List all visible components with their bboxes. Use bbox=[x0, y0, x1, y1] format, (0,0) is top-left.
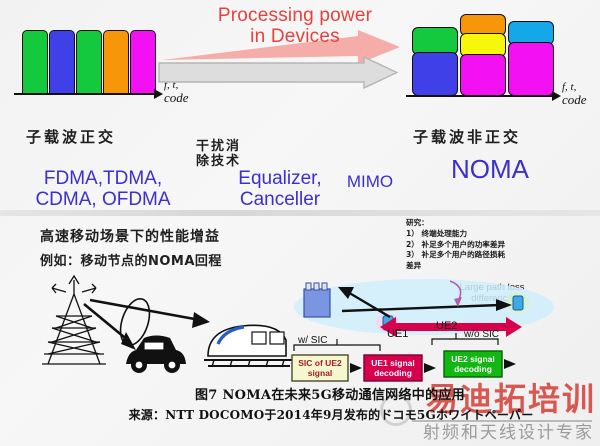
car-icon bbox=[126, 336, 186, 374]
flow-arrow-3 bbox=[504, 359, 516, 369]
stack-column-3 bbox=[508, 21, 554, 96]
train-icon bbox=[204, 325, 294, 367]
research-item-1: 1） 终端处理能力 bbox=[406, 229, 596, 240]
wo-sic-text: w/o SIC bbox=[463, 329, 499, 340]
example-text: 例如：移动节点的NOMA回程 bbox=[40, 250, 222, 269]
mobility-scene bbox=[22, 272, 302, 377]
cell-tower-icon bbox=[42, 276, 106, 364]
slide-figure: f, t, code Processing power in Devices bbox=[0, 0, 600, 446]
ue1-text: UE1 bbox=[387, 328, 408, 340]
interference-cancellation-label: 干扰消 除技术 bbox=[196, 140, 241, 169]
ue2-text: UE2 bbox=[436, 320, 457, 332]
non-orthogonal-subcarrier-chart: f, t, code bbox=[406, 12, 566, 104]
noma-diagram-svg: UE1 UE2 w/ SIC w/o SIC SIC of UE2 signal… bbox=[284, 275, 596, 385]
bar-5 bbox=[130, 30, 156, 94]
svg-text:decoding: decoding bbox=[374, 368, 412, 378]
ue2-device-icon bbox=[506, 293, 530, 313]
block-magenta-2 bbox=[508, 42, 554, 96]
performance-gain-title: 高速移动场景下的性能增益 bbox=[40, 226, 220, 246]
block-blue bbox=[412, 52, 458, 96]
bar-2 bbox=[49, 30, 75, 94]
research-list: 研究： 1） 终端处理能力 2） 补足多个用户的功率差异 3） 补足多个用户的路… bbox=[406, 218, 596, 272]
mimo-label: MIMO bbox=[330, 172, 410, 192]
right-axis-label: f, t, code bbox=[562, 82, 587, 106]
fdma-tdma-label: FDMA,TDMA, CDMA, OFDMA bbox=[8, 168, 198, 211]
mobility-scene-svg bbox=[22, 272, 302, 377]
stack-column-1 bbox=[412, 27, 458, 96]
orthogonal-subcarrier-chart: f, t, code bbox=[14, 22, 164, 102]
figure-caption: 图7 NOMA在未来5G移动通信网络中的应用 bbox=[120, 384, 540, 403]
bar-1 bbox=[22, 30, 48, 94]
gray-arrow-shape bbox=[158, 56, 398, 90]
bar-3 bbox=[76, 30, 102, 94]
orthogonal-subcarrier-label: 子载波正交 bbox=[26, 126, 116, 147]
svg-text:UE1 signal: UE1 signal bbox=[371, 358, 414, 368]
flow-arrow-2 bbox=[424, 363, 436, 373]
research-item-3: 3） 补足多个用户的路径损耗 bbox=[406, 250, 596, 261]
stack-column-2 bbox=[460, 14, 506, 96]
right-axis-arrow-icon bbox=[552, 91, 561, 101]
left-chart-axis bbox=[14, 93, 156, 95]
block-magenta bbox=[460, 54, 506, 96]
bar-4 bbox=[103, 30, 129, 94]
non-orthogonal-subcarrier-label: 子载波非正交 bbox=[413, 126, 521, 147]
svg-text:signal: signal bbox=[308, 368, 333, 378]
noma-label: NOMA bbox=[400, 154, 580, 185]
research-title: 研究： bbox=[406, 218, 596, 229]
base-station-icon bbox=[304, 283, 330, 317]
section-divider bbox=[0, 210, 600, 216]
svg-text:decoding: decoding bbox=[454, 364, 492, 374]
w-sic-text: w/ SIC bbox=[297, 335, 327, 346]
left-axis-arrow-icon bbox=[154, 89, 163, 99]
research-item-3-cont: 差异 bbox=[406, 261, 596, 272]
figure-source: 来源：NTT DOCOMO于2014年9月发布的ドコモ5Gホワイトペーパー bbox=[96, 406, 566, 423]
left-chart-bars bbox=[22, 30, 156, 94]
flow-arrow-1 bbox=[350, 363, 362, 373]
svg-text:SIC of UE2: SIC of UE2 bbox=[298, 358, 342, 368]
block-green bbox=[412, 27, 458, 55]
ue1-signal-decoding-box: UE1 signal decoding bbox=[364, 355, 422, 381]
processing-power-text: Processing power in Devices bbox=[180, 6, 410, 47]
right-chart-axis bbox=[406, 95, 554, 97]
noma-sic-diagram: UE1 UE2 w/ SIC w/o SIC SIC of UE2 signal… bbox=[284, 275, 596, 385]
research-item-2: 2） 补足多个用户的功率差异 bbox=[406, 240, 596, 251]
right-chart-columns bbox=[412, 14, 554, 96]
transition-arrow bbox=[158, 56, 398, 90]
sic-of-ue2-box: SIC of UE2 signal bbox=[292, 355, 348, 381]
svg-text:UE2 signal: UE2 signal bbox=[451, 354, 494, 364]
